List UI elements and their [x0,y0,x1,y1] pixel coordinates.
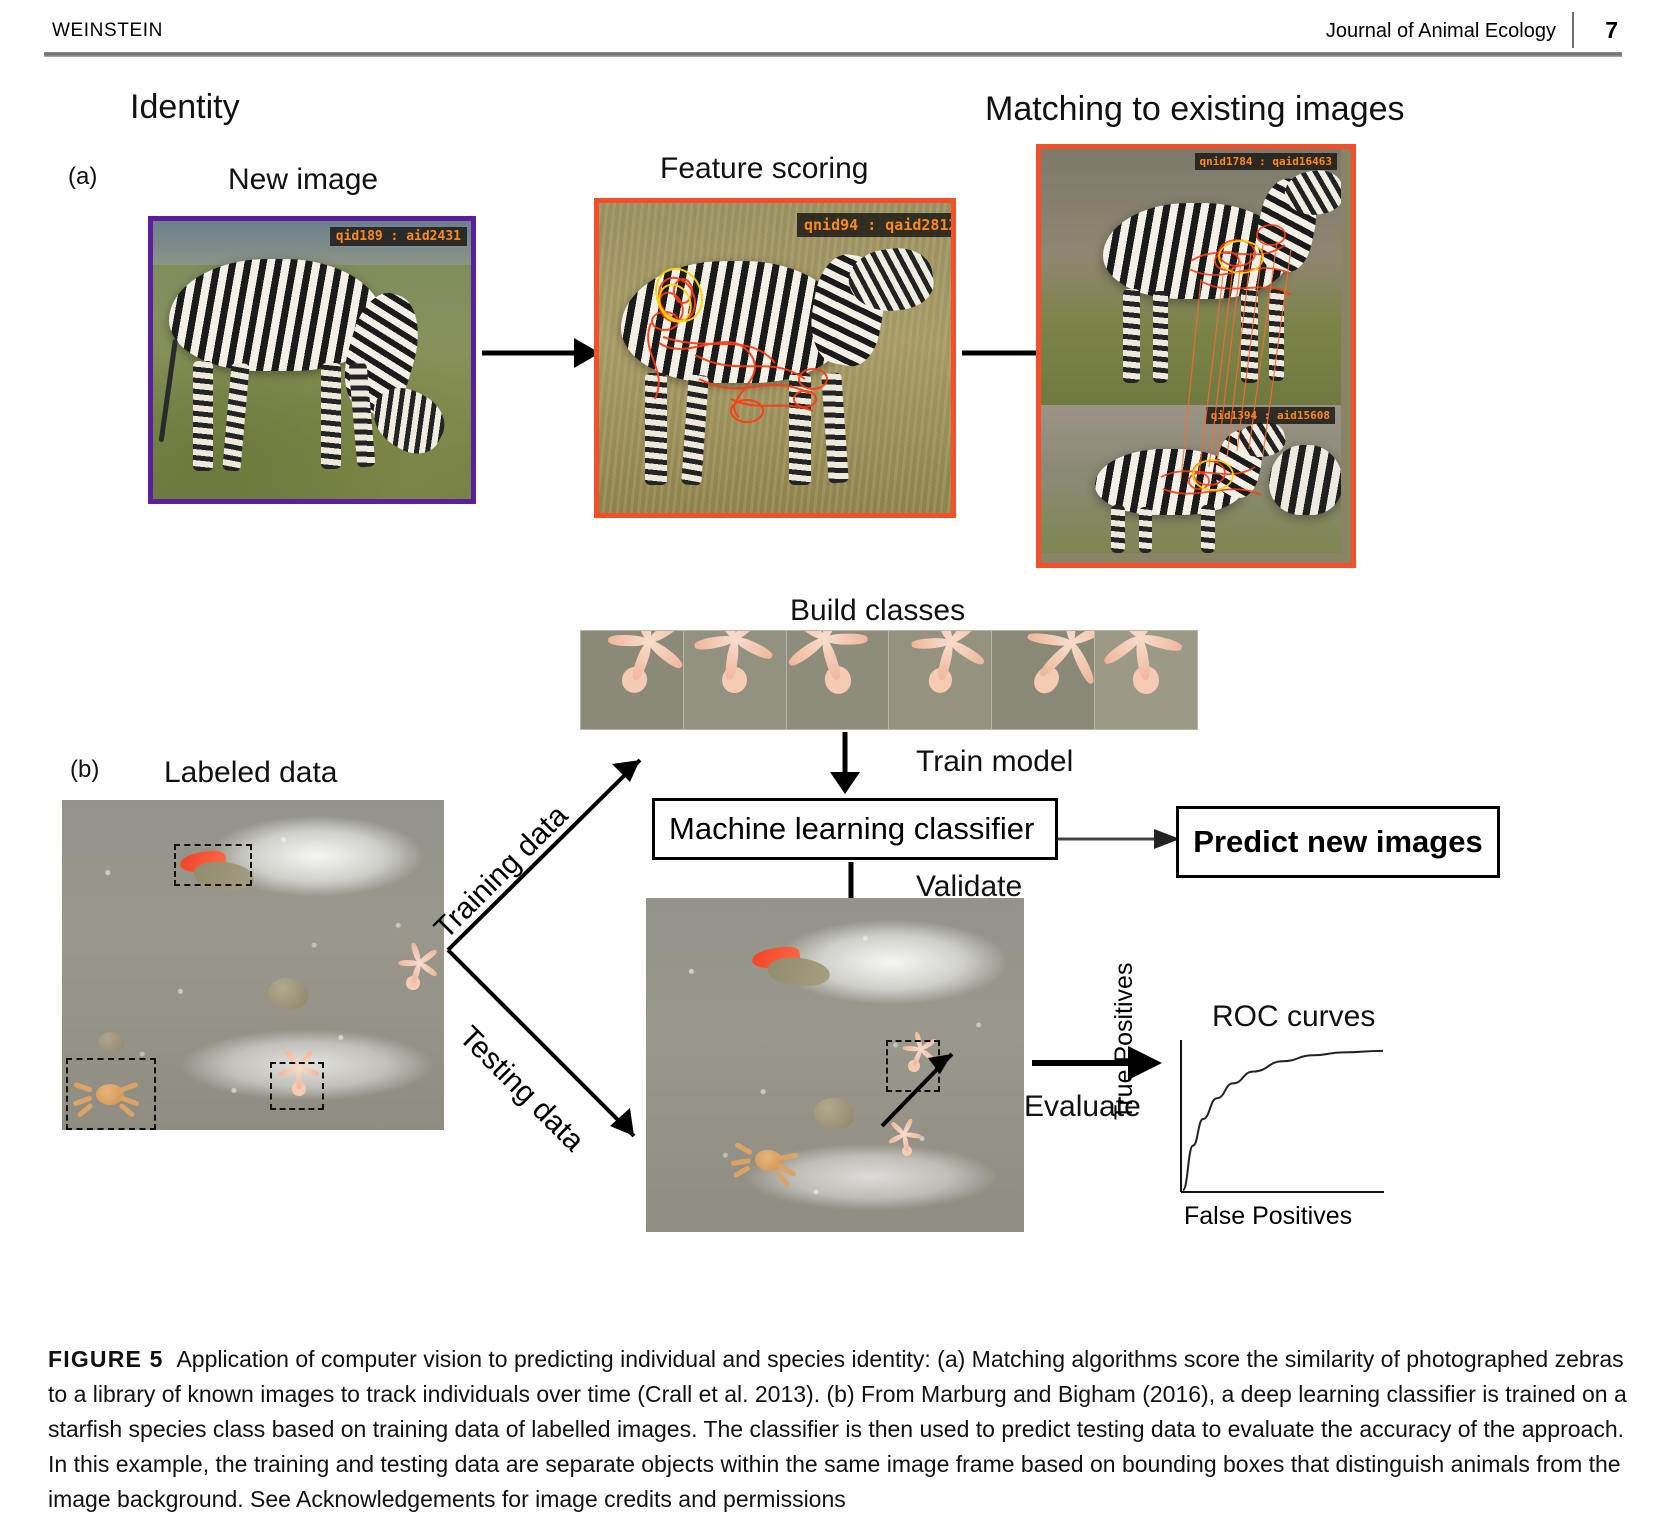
arrow-build-to-classifier [822,732,868,794]
class-thumbnail [1095,631,1197,729]
bounding-box-crab [66,1058,156,1130]
zebra-leg [1139,507,1152,553]
arrow-evaluate [1032,1044,1162,1082]
class-thumbnail [581,631,684,729]
zebra-body-secondary [1269,445,1341,515]
rock [814,1098,854,1130]
starfish-icon [895,633,985,727]
class-thumbnail [684,631,787,729]
feature-scoring-label: Feature scoring [660,152,868,186]
image-id-tag: qnid1784 : qaid16463 [1195,153,1337,170]
match-image-bottom: qid1394 : aid15608 [1041,405,1341,553]
testing-data-label: Testing data [452,1020,590,1158]
roc-chart: ROC curves True Positives False Positive… [1162,1000,1522,1240]
zebra-leg [321,363,341,469]
running-head-divider [1572,12,1574,48]
zebra-leg [645,373,667,485]
validation-photo [646,898,1024,1232]
roc-chart-title: ROC curves [1212,1000,1375,1034]
zebra-leg [1123,289,1140,383]
figure-caption-text: Application of computer vision to predic… [48,1346,1627,1512]
image-id-tag: qid1394 : aid15608 [1206,407,1335,424]
bounding-box-starfish [270,1062,324,1110]
running-head-journal: Journal of Animal Ecology [1326,20,1556,43]
page-number: 7 [1605,17,1618,44]
matching-images-photo: qnid1784 : qaid16463 q [1036,144,1356,568]
new-image-label: New image [228,163,378,197]
classifier-box-label: Machine learning classifier [655,811,1034,847]
panel-a-label: (a) [68,163,97,191]
figure-caption: FIGURE 5 Application of computer vision … [48,1342,1628,1517]
class-thumbnail [992,631,1095,729]
image-id-tag: qnid94 : qaid2812 [797,213,956,237]
new-image-photo: qid189 : aid2431 [148,216,476,504]
zebra-leg [1269,289,1284,381]
zebra-leg [193,361,213,471]
arrow-classifier-to-predict [1058,822,1184,856]
zebra-leg [1201,505,1215,553]
starfish [887,1131,926,1170]
rock [268,978,308,1010]
rock [98,1032,124,1052]
labeled-data-label: Labeled data [164,756,338,790]
identity-title: Identity [130,88,240,127]
figure-caption-label: FIGURE 5 [48,1346,164,1372]
zebra-leg [1153,291,1168,383]
build-classes-label: Build classes [790,594,965,628]
image-id-tag: qid189 : aid2431 [330,227,467,246]
zebra-leg [789,373,811,485]
matching-title: Matching to existing images [985,90,1405,129]
running-head: WEINSTEIN Journal of Animal Ecology 7 [0,0,1666,58]
training-data-label: Training data [428,799,575,946]
build-classes-strip [580,630,1198,730]
feature-scoring-photo: qnid94 : qaid2812 [594,198,956,518]
starfish-icon [1100,632,1193,729]
predict-new-images-box[interactable]: Predict new images [1176,806,1500,878]
starfish-icon [992,631,1095,729]
arrow-new-to-scoring [478,330,600,376]
running-head-author: WEINSTEIN [52,20,163,42]
labeled-data-photo [62,800,444,1130]
panel-b-label: (b) [70,756,99,784]
roc-y-axis-label: True Positives [1110,963,1139,1120]
predict-box-label: Predict new images [1179,824,1497,860]
starfish-icon [787,631,890,729]
zebra-leg [1111,505,1125,553]
header-rule [44,52,1622,57]
bounding-box-starfish [886,1040,940,1092]
roc-x-axis-label: False Positives [1184,1202,1352,1231]
bounding-box-fish [174,844,252,886]
train-model-label: Train model [916,745,1073,779]
machine-learning-classifier-box[interactable]: Machine learning classifier [652,798,1058,860]
starfish-icon [584,631,684,729]
match-image-top: qnid1784 : qaid16463 [1041,149,1341,405]
class-thumbnail [787,631,890,729]
starfish-icon [696,639,773,721]
class-thumbnail [889,631,992,729]
crab [732,1127,805,1193]
roc-plot-area [1178,1040,1388,1198]
zebra-leg [1241,289,1258,383]
